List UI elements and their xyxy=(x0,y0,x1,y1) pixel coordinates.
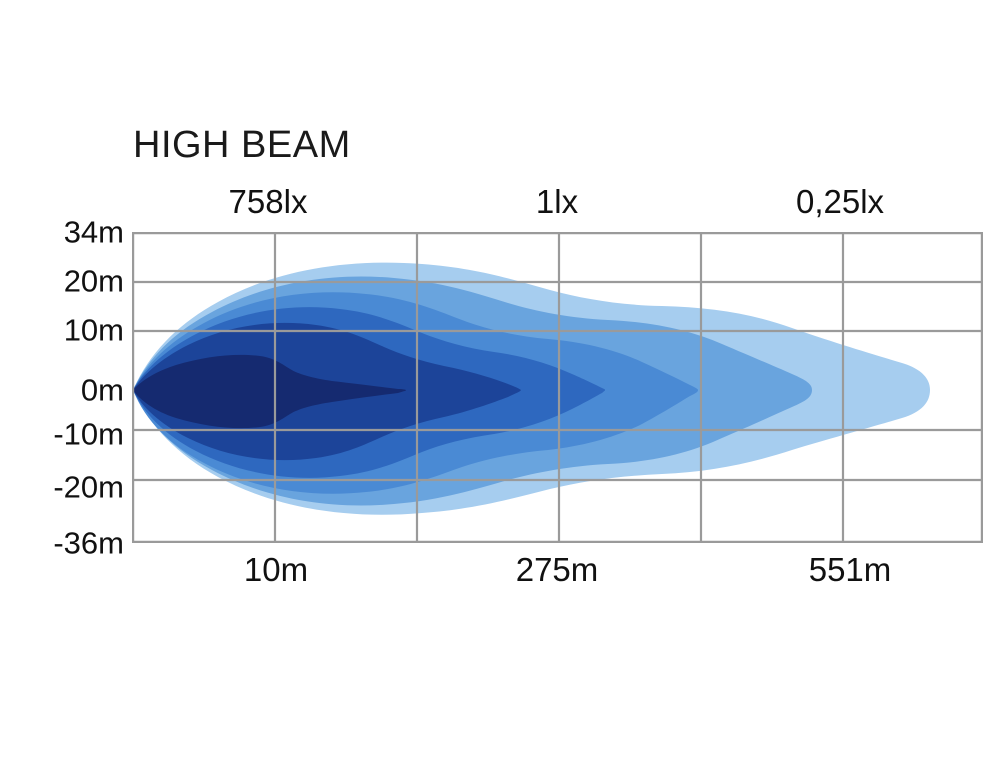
lux-label: 0,25lx xyxy=(796,185,884,218)
y-axis-label: -20m xyxy=(53,472,124,503)
y-axis-label: 10m xyxy=(64,315,124,346)
y-axis-label: -10m xyxy=(53,419,124,450)
plot-area xyxy=(132,232,983,543)
page-title: HIGH BEAM xyxy=(133,126,351,164)
distance-label: 10m xyxy=(244,553,308,586)
y-axis-label-column: 34m20m10m0m-10m-20m-36m xyxy=(0,0,124,778)
beam-pattern-diagram: HIGH BEAM 758lx1lx0,25lx 10m275m551m 34m… xyxy=(0,0,1000,778)
y-axis-label: -36m xyxy=(53,528,124,559)
y-axis-label: 34m xyxy=(64,217,124,248)
lux-label: 758lx xyxy=(229,185,308,218)
beam-pattern-svg xyxy=(132,232,983,543)
isolux-contour-group xyxy=(133,263,930,515)
distance-label: 551m xyxy=(809,553,892,586)
y-axis-label: 0m xyxy=(81,375,124,406)
distance-label: 275m xyxy=(516,553,599,586)
lux-label: 1lx xyxy=(536,185,578,218)
y-axis-label: 20m xyxy=(64,266,124,297)
